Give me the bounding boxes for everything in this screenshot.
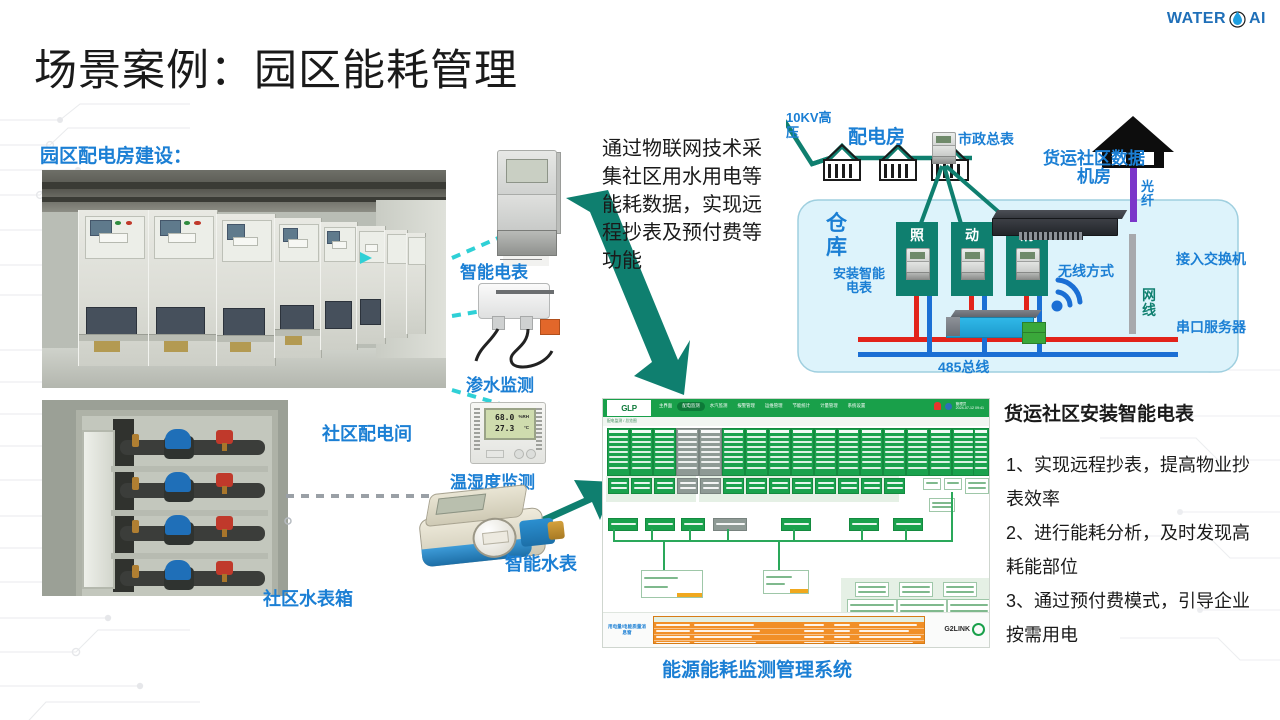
footer-left-label: 用电量/电能质量消息窗 <box>606 619 648 641</box>
dashboard-screenshot[interactable]: GLP 主界面 配电监测 水汽监测 报警管理 运维管理 节能统计 计量管理 系统… <box>602 398 990 648</box>
label-fiber: 光纤 <box>1141 180 1155 208</box>
section-label-distribution-construction: 园区配电房建设： <box>40 141 192 168</box>
label-wireless: 无线方式 <box>1058 264 1114 279</box>
label-water-meter-box: 社区水表箱 <box>263 585 353 611</box>
dashboard-caption: 能源能耗监测管理系统 <box>662 655 852 682</box>
alarm-table[interactable] <box>653 616 925 644</box>
g2link-logo-icon <box>972 623 985 636</box>
label-serial-server: 串口服务器 <box>1176 320 1246 335</box>
nav-item-6[interactable]: 计量管理 <box>820 403 838 409</box>
label-data-center: 货运社区数据机房 <box>1038 150 1150 187</box>
description-text: 通过物联网技术采集社区用水用电等能耗数据，实现远程抄表及预付费等功能 <box>602 135 762 275</box>
right-block-list: 1、实现远程抄表，提高物业抄表效率 2、进行能耗分析，及时发现高耗能部位 3、通… <box>1006 448 1256 652</box>
device-temp-humidity-monitor: 68.0 %RH 27.3 °C <box>470 402 546 464</box>
avatar[interactable] <box>945 403 952 410</box>
label-install-smart-meters: 安装智能电表 <box>828 267 890 295</box>
dashboard-logo-text: GLP <box>621 404 637 413</box>
footer-brand: G2LINK <box>944 623 985 636</box>
label-net-cable: 网线 <box>1142 288 1158 318</box>
breadcrumb: 配电监测 / 总览图 <box>607 419 637 424</box>
label-access-switch: 接入交换机 <box>1176 252 1246 267</box>
temperature-value: 27.3 <box>495 424 514 433</box>
city-main-meter-icon <box>932 132 954 162</box>
brand-name: WATER <box>1167 10 1226 28</box>
photo-switchgear-room <box>42 170 446 388</box>
cabinet-lighting-label: 照 <box>896 225 938 245</box>
dashboard-user-time: 2024-07-12 09:41 <box>956 406 984 410</box>
brand-logo: WATER AI <box>1167 9 1266 28</box>
cabinet-power: 动 <box>951 222 993 296</box>
device-smart-electric-meter <box>497 150 561 256</box>
label-smart-water-meter: 智能水表 <box>505 550 577 576</box>
serial-server-image <box>946 310 1042 344</box>
nav-item-3[interactable]: 报警管理 <box>737 403 755 409</box>
label-community-distribution-room: 社区配电间 <box>322 420 412 446</box>
right-block-heading: 货运社区安装智能电表 <box>1004 399 1194 426</box>
cabinet-power-label: 动 <box>951 225 993 245</box>
cabinet-lighting: 照 <box>896 222 938 296</box>
nav-item-0[interactable]: 主界面 <box>659 403 672 409</box>
page-title: 场景案例：园区能耗管理 <box>34 36 518 98</box>
label-485-bus: 485总线 <box>938 360 989 375</box>
dashboard-footer: 用电量/电能质量消息窗 G2LINK <box>603 612 989 647</box>
dashboard-logo: GLP <box>607 400 651 416</box>
access-switch-image <box>992 210 1122 236</box>
nav-item-4[interactable]: 运维管理 <box>765 403 783 409</box>
label-warehouse: 仓库 <box>826 212 848 260</box>
humidity-value: 68.0 <box>495 413 514 422</box>
network-diagram: 照 动 消 10KV高压 配电房 市政总表 货运社区数据机房 光纤 接入交换机 … <box>786 112 1266 380</box>
slide-root: WATER AI 场景案例：园区能耗管理 园区配电房建设： <box>0 0 1280 720</box>
label-leak-monitor: 渗水监测 <box>466 371 534 396</box>
right-list-item-1: 1、实现远程抄表，提高物业抄表效率 <box>1006 448 1256 516</box>
label-smart-meter: 智能电表 <box>460 258 528 283</box>
dashboard-topology <box>603 426 989 613</box>
temperature-unit: °C <box>524 425 529 430</box>
dashboard-nav[interactable]: 主界面 配电监测 水汽监测 报警管理 运维管理 节能统计 计量管理 系统设置 <box>659 403 865 409</box>
photo-water-meter-box <box>42 400 288 596</box>
label-distribution-room: 配电房 <box>848 128 905 149</box>
dashboard-user-area[interactable]: 管理员 2024-07-12 09:41 <box>934 402 984 411</box>
brand-suffix: AI <box>1249 10 1266 28</box>
nav-item-2[interactable]: 水汽监测 <box>710 403 728 409</box>
water-drop-icon <box>1229 9 1246 28</box>
nav-item-5[interactable]: 节能统计 <box>793 403 811 409</box>
nav-item-1[interactable]: 配电监测 <box>677 402 705 411</box>
right-list-item-3: 3、通过预付费模式，引导企业按需用电 <box>1006 584 1256 652</box>
nav-item-7[interactable]: 系统设置 <box>848 403 866 409</box>
right-list-item-2: 2、进行能耗分析，及时发现高耗能部位 <box>1006 516 1256 584</box>
label-city-main-meter: 市政总表 <box>958 132 1014 147</box>
humidity-unit: %RH <box>518 414 529 419</box>
alarm-bell-icon[interactable] <box>934 402 941 410</box>
device-water-leak-sensor <box>466 283 562 371</box>
label-10kv-high-voltage: 10KV高压 <box>786 110 840 140</box>
